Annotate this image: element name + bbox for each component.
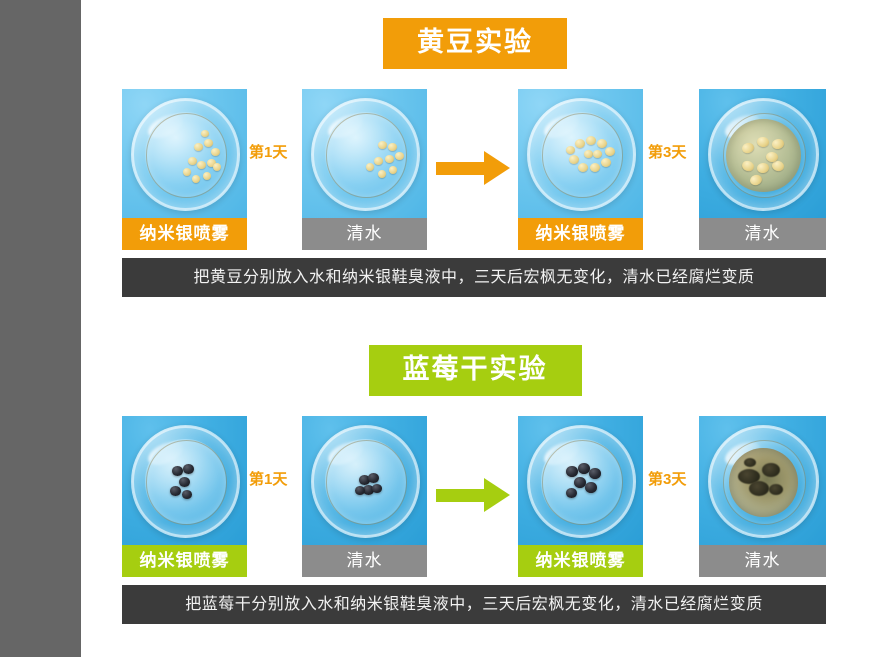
blueberry-icon xyxy=(368,473,379,483)
photo-cell-soy-water-day3[interactable]: 清水 xyxy=(699,89,826,250)
soybean-icon xyxy=(378,170,386,178)
blueberry-icon xyxy=(589,468,601,479)
mold-spot-icon xyxy=(769,484,783,495)
section-soybean-experiment: 黄豆实验 xyxy=(81,18,869,297)
water-surface xyxy=(325,112,407,196)
soybean-icon xyxy=(605,147,615,156)
page-canvas: 黄豆实验 xyxy=(81,0,869,657)
soybean-icon xyxy=(597,139,607,148)
photo-petri-dish-blueberries-nano-silver-day3 xyxy=(518,416,643,545)
progress-arrow-icon-berry xyxy=(436,478,510,512)
water-surface xyxy=(325,439,407,523)
soybean-icon xyxy=(771,138,785,150)
soybean-icon xyxy=(593,150,602,158)
arrow-shaft xyxy=(436,162,486,175)
left-margin-strip xyxy=(0,0,81,657)
blueberry-icon xyxy=(566,466,578,477)
section-title-soybean: 黄豆实验 xyxy=(383,18,567,69)
arrow-shaft xyxy=(436,489,486,502)
day-label-end-berry: 第3天 xyxy=(648,468,686,489)
petri-dish-icon xyxy=(311,425,421,538)
rotten-mass xyxy=(726,119,800,192)
soybean-icon xyxy=(385,155,394,163)
glass-glint-icon xyxy=(145,110,186,142)
photo-label-soy-water-day3: 清水 xyxy=(699,218,826,250)
soybean-icon xyxy=(194,143,203,151)
soybean-icon xyxy=(204,139,213,147)
glass-glint-icon xyxy=(325,110,366,142)
banner-row-soybean: 黄豆实验 xyxy=(81,18,869,69)
glass-glint-icon xyxy=(722,437,764,469)
photo-cell-soy-water-day1[interactable]: 清水 xyxy=(302,89,427,250)
soybean-icon xyxy=(389,166,397,174)
soybean-icon xyxy=(366,163,374,171)
day-label-end-soy: 第3天 xyxy=(648,141,686,162)
mold-spot-icon xyxy=(762,463,780,477)
photo-petri-dish-blueberries-water-day3-moldy xyxy=(699,416,826,545)
blueberry-icon xyxy=(172,466,183,476)
caption-blueberry: 把蓝莓干分别放入水和纳米银鞋臭液中，三天后宏枫无变化，清水已经腐烂变质 xyxy=(122,585,826,624)
soybean-icon xyxy=(183,168,191,176)
soybean-icon xyxy=(201,130,209,137)
photo-label-berry-silver-day1: 纳米银喷雾 xyxy=(122,545,247,577)
photo-strip-soybean: 纳米银喷雾 xyxy=(81,89,869,250)
water-surface xyxy=(541,439,623,523)
petri-dish-icon xyxy=(708,425,819,538)
photo-cell-soy-silver-day3[interactable]: 纳米银喷雾 xyxy=(518,89,643,250)
blueberry-icon xyxy=(578,463,590,474)
blueberry-icon xyxy=(585,482,597,493)
glass-glint-icon xyxy=(541,437,582,469)
progress-arrow-icon-soy xyxy=(436,151,510,185)
mold-spot-icon xyxy=(738,469,760,484)
day-label-start-berry: 第1天 xyxy=(249,468,287,489)
petri-dish-icon xyxy=(131,425,241,538)
arrow-head xyxy=(484,151,510,185)
soybean-icon xyxy=(756,136,769,148)
soybean-icon xyxy=(388,143,397,151)
photo-label-berry-silver-day3: 纳米银喷雾 xyxy=(518,545,643,577)
section-blueberry-experiment: 蓝莓干实验 纳米银喷雾 xyxy=(81,345,869,624)
blueberry-icon xyxy=(170,486,181,496)
glass-glint-icon xyxy=(722,110,764,142)
soybean-icon xyxy=(197,161,206,169)
photo-label-berry-water-day3: 清水 xyxy=(699,545,826,577)
section-title-blueberry: 蓝莓干实验 xyxy=(369,345,582,396)
photo-petri-dish-blueberries-nano-silver-day1 xyxy=(122,416,247,545)
soybean-icon xyxy=(584,150,593,158)
photo-cell-berry-silver-day1[interactable]: 纳米银喷雾 xyxy=(122,416,247,577)
soybean-icon xyxy=(740,142,755,155)
photo-petri-dish-soybeans-water-day3-rotten xyxy=(699,89,826,218)
photo-label-soy-water-day1: 清水 xyxy=(302,218,427,250)
soybean-icon xyxy=(590,163,600,172)
soybean-icon xyxy=(771,160,785,173)
water-surface xyxy=(145,112,227,196)
petri-dish-icon xyxy=(311,98,421,211)
photo-cell-berry-water-day3[interactable]: 清水 xyxy=(699,416,826,577)
mold-spot-icon xyxy=(749,481,769,496)
day-label-start-soy: 第1天 xyxy=(249,141,287,162)
water-surface xyxy=(145,439,227,523)
petri-dish-icon xyxy=(527,98,637,211)
mold-spot-icon xyxy=(744,458,756,467)
glass-glint-icon xyxy=(325,437,366,469)
petri-dish-icon xyxy=(131,98,241,211)
blueberry-icon xyxy=(363,485,374,495)
soybean-icon xyxy=(601,158,611,167)
soybean-icon xyxy=(566,146,575,154)
photo-strip-blueberry: 纳米银喷雾 清水 xyxy=(81,416,869,577)
photo-petri-dish-blueberries-water-day1 xyxy=(302,416,427,545)
soybean-icon xyxy=(569,155,579,164)
blueberry-icon xyxy=(182,490,192,499)
arrow-head xyxy=(484,478,510,512)
banner-row-blueberry: 蓝莓干实验 xyxy=(81,345,869,396)
petri-dish-icon xyxy=(527,425,637,538)
glass-glint-icon xyxy=(541,110,582,142)
soybean-icon xyxy=(586,136,596,145)
soybean-icon xyxy=(192,175,200,183)
mold-mass xyxy=(729,448,799,517)
photo-cell-berry-water-day1[interactable]: 清水 xyxy=(302,416,427,577)
glass-glint-icon xyxy=(145,437,186,469)
soybean-icon xyxy=(378,141,387,149)
blueberry-icon xyxy=(574,477,586,488)
soybean-icon xyxy=(207,159,216,167)
soybean-icon xyxy=(188,157,197,165)
soybean-icon xyxy=(203,172,211,180)
photo-cell-berry-silver-day3[interactable]: 纳米银喷雾 xyxy=(518,416,643,577)
blueberry-icon xyxy=(355,486,365,495)
blueberry-icon xyxy=(359,475,370,485)
photo-label-soy-silver-day1: 纳米银喷雾 xyxy=(122,218,247,250)
photo-petri-dish-soybeans-water-day1 xyxy=(302,89,427,218)
soybean-icon xyxy=(575,139,585,148)
soybean-icon xyxy=(749,173,764,187)
photo-petri-dish-soybeans-nano-silver-day1 xyxy=(122,89,247,218)
soybean-icon xyxy=(374,157,383,165)
soybean-icon xyxy=(740,159,755,173)
blueberry-icon xyxy=(566,488,577,498)
petri-dish-icon xyxy=(708,98,819,211)
caption-soybean: 把黄豆分别放入水和纳米银鞋臭液中，三天后宏枫无变化，清水已经腐烂变质 xyxy=(122,258,826,297)
soybean-icon xyxy=(211,148,220,156)
photo-cell-soy-silver-day1[interactable]: 纳米银喷雾 xyxy=(122,89,247,250)
photo-label-berry-water-day1: 清水 xyxy=(302,545,427,577)
blueberry-icon xyxy=(372,484,382,493)
water-surface xyxy=(541,112,623,196)
photo-petri-dish-soybeans-nano-silver-day3 xyxy=(518,89,643,218)
photo-label-soy-silver-day3: 纳米银喷雾 xyxy=(518,218,643,250)
soybean-icon xyxy=(213,163,221,171)
soybean-icon xyxy=(395,152,404,160)
soybean-icon xyxy=(765,152,778,163)
blueberry-icon xyxy=(183,464,194,474)
soybean-icon xyxy=(756,163,769,174)
blueberry-icon xyxy=(179,477,190,487)
soybean-icon xyxy=(578,163,588,172)
